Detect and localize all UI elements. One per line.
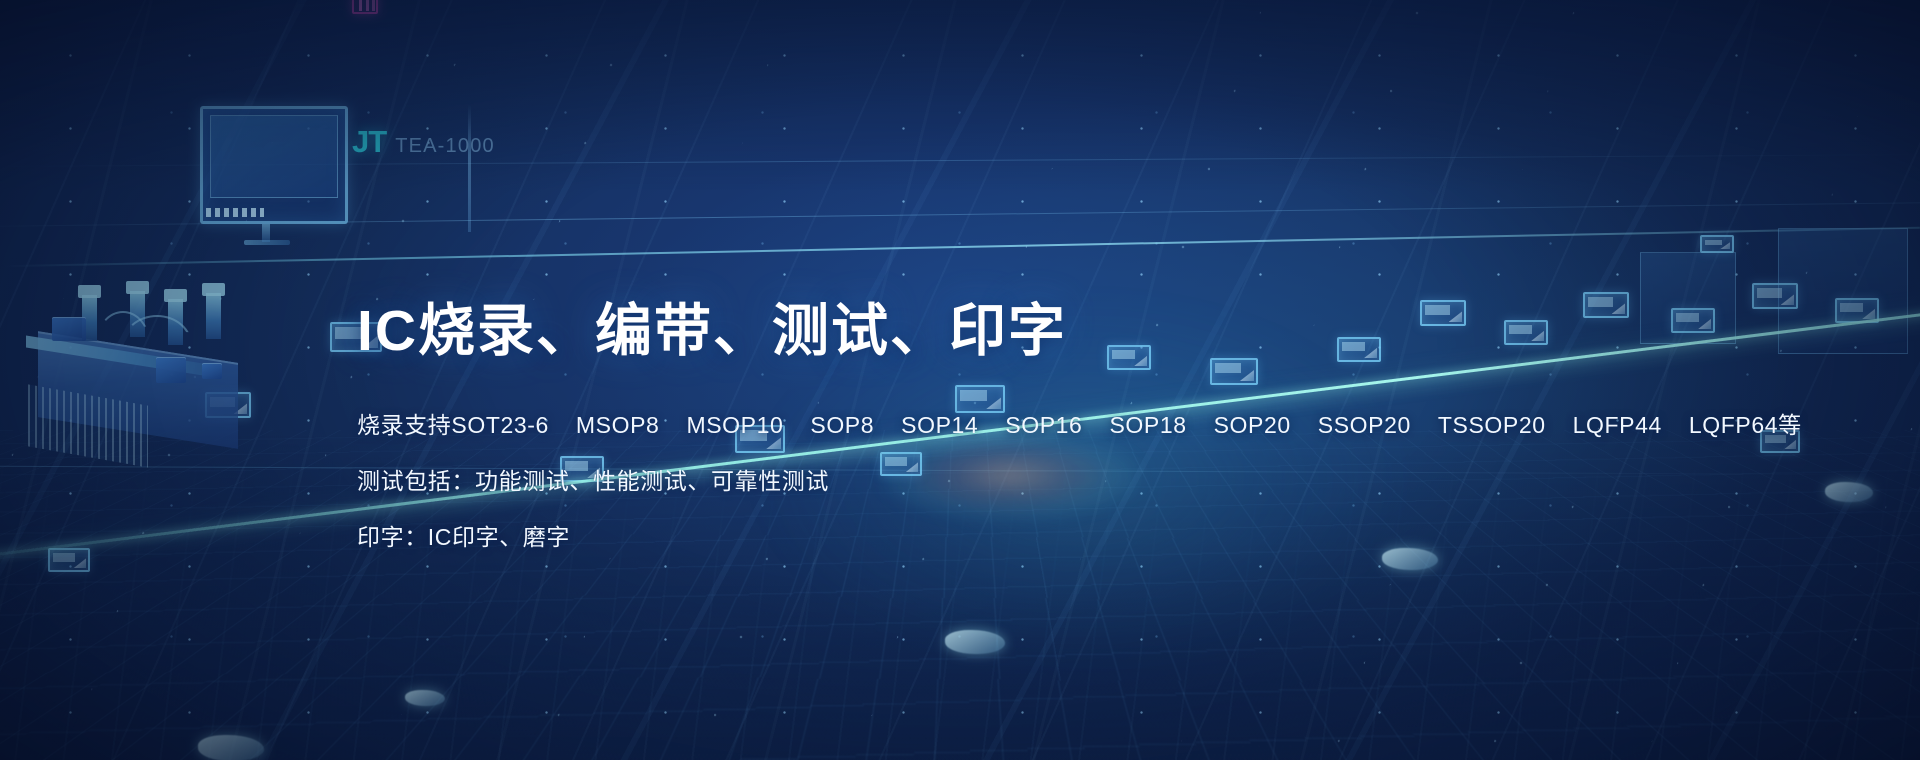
printing-scope-line: 印字：IC印字、磨字 xyxy=(357,518,1677,552)
package-tag: SOP18 xyxy=(1109,412,1186,439)
package-tag: LQFP64等 xyxy=(1689,406,1802,440)
testing-scope-line: 测试包括：功能测试、性能测试、可靠性测试 xyxy=(357,462,1677,496)
magenta-chip-accent xyxy=(352,0,378,14)
horizon-rail-upper xyxy=(0,202,1920,227)
ic-chip-sprite xyxy=(1700,235,1734,253)
burn-support-lead: 烧录支持SOT23-6 xyxy=(357,406,549,440)
package-tag: SOP16 xyxy=(1005,412,1082,439)
page-title: IC烧录、编带、测试、印字 xyxy=(357,300,1677,364)
ic-chip-sprite xyxy=(1671,308,1715,333)
package-tag: MSOP8 xyxy=(576,412,660,439)
ic-service-banner: JT TEA-1000 IC烧录、编带、测试、印字 烧录支持SOT23-6 MS… xyxy=(0,0,1920,760)
top-shade-overlay xyxy=(0,0,1920,190)
package-tag: MSOP10 xyxy=(686,412,783,439)
horizon-rail-far xyxy=(0,154,1920,167)
package-tag: SOP8 xyxy=(810,412,874,439)
model-number-text: TEA-1000 xyxy=(395,135,495,158)
package-tag: SSOP20 xyxy=(1318,412,1411,439)
package-tag: LQFP44 xyxy=(1573,412,1662,439)
control-monitor-graphic xyxy=(200,106,348,224)
horizon-rail-main xyxy=(0,227,1920,268)
industrial-machinery-graphic xyxy=(10,255,260,455)
package-tag: SOP14 xyxy=(901,412,978,439)
ic-chip-sprite xyxy=(205,392,251,418)
package-support-line: 烧录支持SOT23-6 MSOP8 MSOP10 SOP8 SOP14 SOP1… xyxy=(357,406,1677,440)
ic-chip-sprite xyxy=(1752,283,1798,309)
watermark-brand-logo: JT TEA-1000 xyxy=(352,124,495,160)
package-tag: TSSOP20 xyxy=(1438,412,1546,439)
brand-mark-text: JT xyxy=(352,124,386,160)
banner-content: IC烧录、编带、测试、印字 烧录支持SOT23-6 MSOP8 MSOP10 S… xyxy=(357,300,1677,552)
package-tag: SOP20 xyxy=(1214,412,1291,439)
